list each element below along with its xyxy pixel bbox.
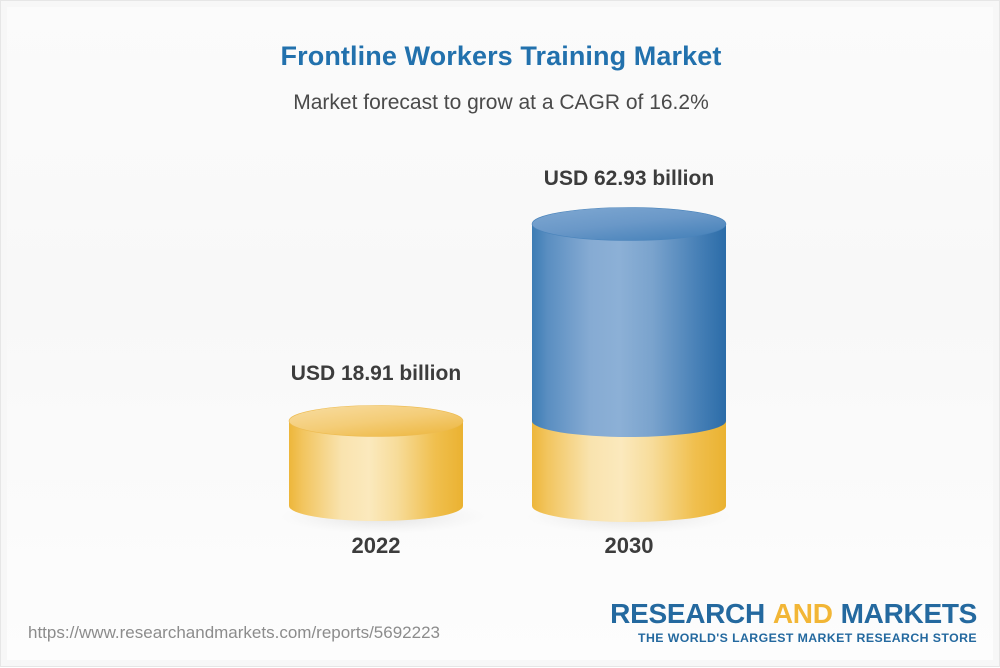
- brand-logo: RESEARCHANDMARKETS THE WORLD'S LARGEST M…: [610, 599, 977, 645]
- logo-word-markets: MARKETS: [841, 598, 977, 629]
- value-label-2030: USD 62.93 billion: [504, 167, 754, 191]
- page-title: Frontline Workers Training Market: [1, 41, 1000, 72]
- category-label-2030: 2030: [504, 533, 754, 559]
- logo-word-research: RESEARCH: [610, 598, 765, 629]
- logo-wordmark: RESEARCHANDMARKETS: [610, 599, 977, 628]
- category-label-2022: 2022: [251, 533, 501, 559]
- logo-tagline: THE WORLD'S LARGEST MARKET RESEARCH STOR…: [610, 631, 977, 645]
- value-label-2022: USD 18.91 billion: [251, 362, 501, 386]
- logo-word-and: AND: [773, 598, 833, 629]
- source-url[interactable]: https://www.researchandmarkets.com/repor…: [28, 623, 440, 643]
- chart-subtitle: Market forecast to grow at a CAGR of 16.…: [1, 91, 1000, 115]
- chart-canvas: Frontline Workers Training Market Market…: [0, 0, 1000, 667]
